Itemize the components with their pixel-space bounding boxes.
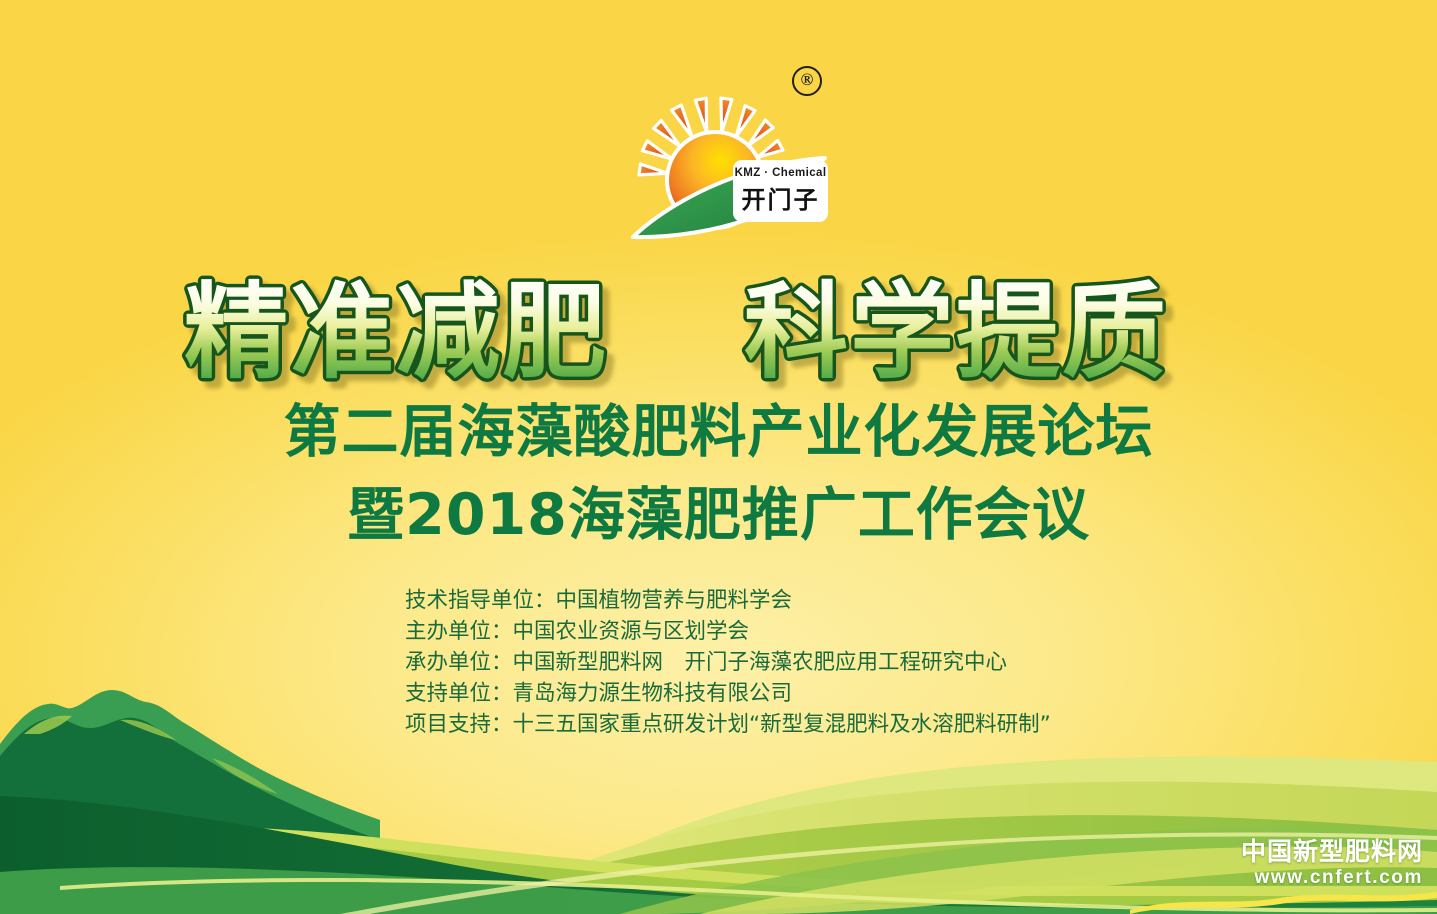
watermark: 中国新型肥料网 www.cnfert.com: [1241, 838, 1423, 890]
green-hills-illustration: [0, 624, 1437, 914]
headline-artwork: 精准减肥 科学提质: [169, 268, 1269, 393]
headline-phrase-2: 科学提质: [744, 271, 1168, 393]
logo-brand-plate: KMZ · Chemical 开门子: [733, 160, 828, 222]
logo-latin-brand: KMZ · Chemical: [735, 167, 827, 179]
credit-line: 技术指导单位：中国植物营养与肥料学会: [405, 585, 1165, 616]
subtitle-line-1: 第二届海藻酸肥料产业化发展论坛: [0, 404, 1437, 461]
watermark-site-name: 中国新型肥料网: [1241, 838, 1423, 866]
registered-trademark-icon: ®: [792, 66, 822, 96]
headline-phrase-1: 精准减肥: [184, 271, 608, 393]
kmz-chemical-logo: ® KMZ · Chemical 开门子: [625, 62, 830, 247]
watermark-url: www.cnfert.com: [1241, 866, 1423, 890]
conference-poster: ® KMZ · Chemical 开门子 精准减肥: [0, 0, 1437, 914]
logo-chinese-brand: 开门子: [742, 180, 820, 215]
headline: 精准减肥 科学提质: [0, 268, 1437, 393]
subtitle-line-2: 暨2018海藻肥推广工作会议: [0, 487, 1437, 544]
